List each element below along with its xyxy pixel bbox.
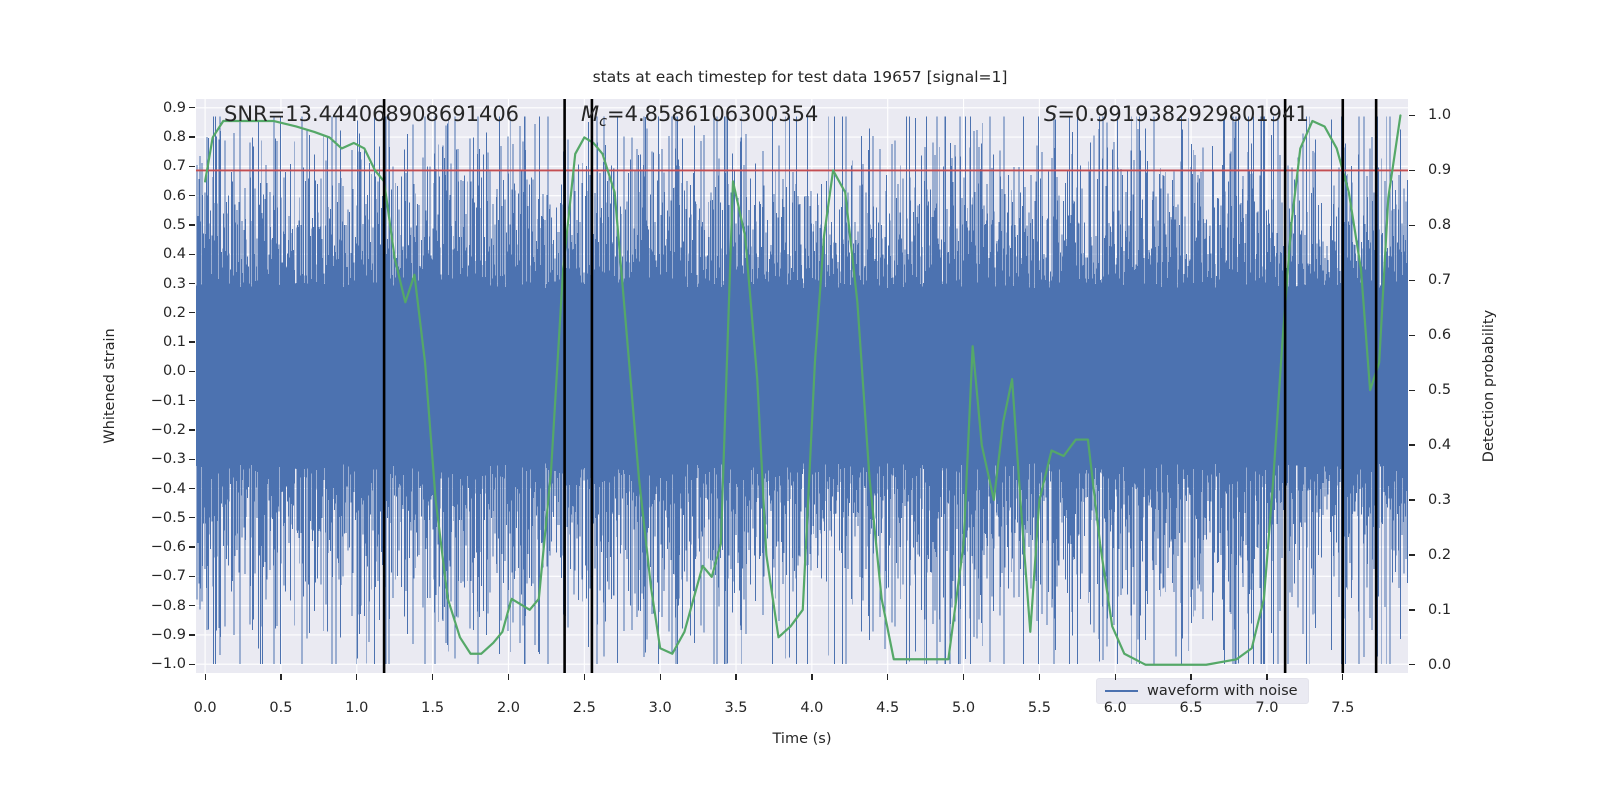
annotation-snr: SNR=13.444068908691406 xyxy=(224,102,519,126)
right-axis-tick-label: 0.9 xyxy=(1428,162,1451,178)
annotation-s-symbol: S xyxy=(1044,102,1057,126)
event-marker-lines xyxy=(196,99,1408,673)
right-axis-tick-label: 0.2 xyxy=(1428,547,1451,563)
annotation-s-value: 0.9919382929801941 xyxy=(1075,102,1309,126)
axis-tick-mark xyxy=(280,674,281,680)
left-axis-tick-label: 0.3 xyxy=(163,276,186,292)
axis-tick-mark xyxy=(189,341,195,342)
left-axis-tick-label: 0.1 xyxy=(163,334,186,350)
x-axis-tick-label: 7.5 xyxy=(1331,700,1354,716)
x-axis-tick-label: 5.5 xyxy=(1028,700,1051,716)
left-axis-tick-label: −0.1 xyxy=(151,393,186,409)
axis-tick-mark xyxy=(1409,170,1415,171)
axis-tick-mark xyxy=(205,674,206,680)
axis-tick-mark xyxy=(189,664,195,665)
left-axis-tick-label: −0.5 xyxy=(151,510,186,526)
axis-tick-mark xyxy=(1342,674,1343,680)
left-axis-tick-label: −0.3 xyxy=(151,451,186,467)
left-axis-tick-label: −0.8 xyxy=(151,598,186,614)
annotation-s-equals: = xyxy=(1057,102,1075,126)
x-axis-tick-label: 1.0 xyxy=(345,700,368,716)
left-axis-tick-label: 0.0 xyxy=(163,363,186,379)
axis-tick-mark xyxy=(1409,609,1415,610)
left-axis-tick-label: 0.2 xyxy=(163,305,186,321)
annotation-mc-equals: = xyxy=(607,102,625,126)
annotation-mc-value: 4.8586106300354 xyxy=(625,102,819,126)
x-axis-tick-label: 7.0 xyxy=(1255,700,1278,716)
axis-tick-mark xyxy=(189,634,195,635)
x-axis-tick-label: 5.0 xyxy=(952,700,975,716)
x-axis-tick-label: 0.0 xyxy=(194,700,217,716)
right-axis-tick-label: 0.3 xyxy=(1428,492,1451,508)
axis-tick-mark xyxy=(189,283,195,284)
legend-label-waveform: waveform with noise xyxy=(1147,683,1298,699)
right-axis-tick-label: 0.1 xyxy=(1428,602,1451,618)
axis-tick-mark xyxy=(1409,664,1415,665)
axis-tick-mark xyxy=(1409,444,1415,445)
chart-title: stats at each timestep for test data 196… xyxy=(0,68,1600,86)
axis-tick-mark xyxy=(189,195,195,196)
axis-tick-mark xyxy=(189,605,195,606)
axis-tick-mark xyxy=(189,254,195,255)
x-axis-tick-label: 0.5 xyxy=(269,700,292,716)
axis-tick-mark xyxy=(189,107,195,108)
x-axis-tick-label: 2.5 xyxy=(573,700,596,716)
x-axis-label: Time (s) xyxy=(773,731,832,747)
left-axis-tick-label: 0.4 xyxy=(163,246,186,262)
figure-canvas: stats at each timestep for test data 196… xyxy=(0,0,1600,800)
left-axis-label: Whitened strain xyxy=(102,328,118,443)
axis-tick-mark xyxy=(189,429,195,430)
annotation-mc-symbol: M xyxy=(581,102,599,126)
annotation-significance: S=0.9919382929801941 xyxy=(1044,102,1309,126)
x-axis-tick-label: 2.0 xyxy=(497,700,520,716)
axis-tick-mark xyxy=(432,674,433,680)
axis-tick-mark xyxy=(356,674,357,680)
right-axis-tick-label: 0.0 xyxy=(1428,657,1451,673)
axis-tick-mark xyxy=(189,312,195,313)
left-axis-tick-label: −1.0 xyxy=(151,656,186,672)
x-axis-tick-label: 1.5 xyxy=(421,700,444,716)
annotation-snr-text: SNR=13.444068908691406 xyxy=(224,102,519,126)
axis-tick-mark xyxy=(189,371,195,372)
axis-tick-mark xyxy=(189,546,195,547)
left-axis-tick-label: 0.6 xyxy=(163,188,186,204)
axis-tick-mark xyxy=(735,674,736,680)
axis-tick-mark xyxy=(1409,390,1415,391)
left-axis-tick-label: −0.9 xyxy=(151,627,186,643)
axis-tick-mark xyxy=(189,400,195,401)
axis-tick-mark xyxy=(189,166,195,167)
right-axis-tick-label: 0.4 xyxy=(1428,437,1451,453)
annotation-mc-subscript: c xyxy=(599,114,607,130)
axis-tick-mark xyxy=(1409,335,1415,336)
x-axis-tick-label: 6.0 xyxy=(1104,700,1127,716)
axis-tick-mark xyxy=(1409,280,1415,281)
right-axis-label: Detection probability xyxy=(1481,310,1497,462)
right-axis-tick-label: 1.0 xyxy=(1428,107,1451,123)
left-axis-tick-label: 0.7 xyxy=(163,158,186,174)
axis-tick-mark xyxy=(189,576,195,577)
axis-tick-mark xyxy=(1190,674,1191,680)
right-axis-tick-label: 0.6 xyxy=(1428,327,1451,343)
axis-tick-mark xyxy=(811,674,812,680)
x-axis-tick-label: 4.0 xyxy=(800,700,823,716)
right-axis-tick-label: 0.5 xyxy=(1428,382,1451,398)
axis-tick-mark xyxy=(887,674,888,680)
left-axis-tick-label: −0.7 xyxy=(151,568,186,584)
axis-tick-mark xyxy=(1266,674,1267,680)
axis-tick-mark xyxy=(1409,115,1415,116)
left-axis-tick-label: −0.4 xyxy=(151,481,186,497)
axis-tick-mark xyxy=(584,674,585,680)
axis-tick-mark xyxy=(1039,674,1040,680)
right-axis-tick-label: 0.8 xyxy=(1428,217,1451,233)
x-axis-tick-label: 3.0 xyxy=(649,700,672,716)
axis-tick-mark xyxy=(963,674,964,680)
axis-tick-mark xyxy=(1115,674,1116,680)
axis-tick-mark xyxy=(189,224,195,225)
axis-tick-mark xyxy=(1409,499,1415,500)
x-axis-tick-label: 4.5 xyxy=(876,700,899,716)
axis-tick-mark xyxy=(189,488,195,489)
left-axis-tick-label: 0.8 xyxy=(163,129,186,145)
left-axis-tick-label: 0.9 xyxy=(163,100,186,116)
axis-tick-mark xyxy=(1409,225,1415,226)
x-axis-tick-label: 6.5 xyxy=(1180,700,1203,716)
left-axis-tick-label: −0.6 xyxy=(151,539,186,555)
legend-swatch-waveform xyxy=(1105,690,1138,692)
axis-tick-mark xyxy=(189,517,195,518)
axis-tick-mark xyxy=(189,459,195,460)
x-axis-tick-label: 3.5 xyxy=(724,700,747,716)
annotation-chirp-mass: Mc=4.8586106300354 xyxy=(581,102,818,130)
right-axis-tick-label: 0.7 xyxy=(1428,272,1451,288)
axis-tick-mark xyxy=(508,674,509,680)
axis-tick-mark xyxy=(1409,554,1415,555)
plot-area: SNR=13.444068908691406 Mc=4.858610630035… xyxy=(196,99,1408,673)
axis-tick-mark xyxy=(660,674,661,680)
left-axis-tick-label: 0.5 xyxy=(163,217,186,233)
left-axis-tick-label: −0.2 xyxy=(151,422,186,438)
axis-tick-mark xyxy=(189,136,195,137)
